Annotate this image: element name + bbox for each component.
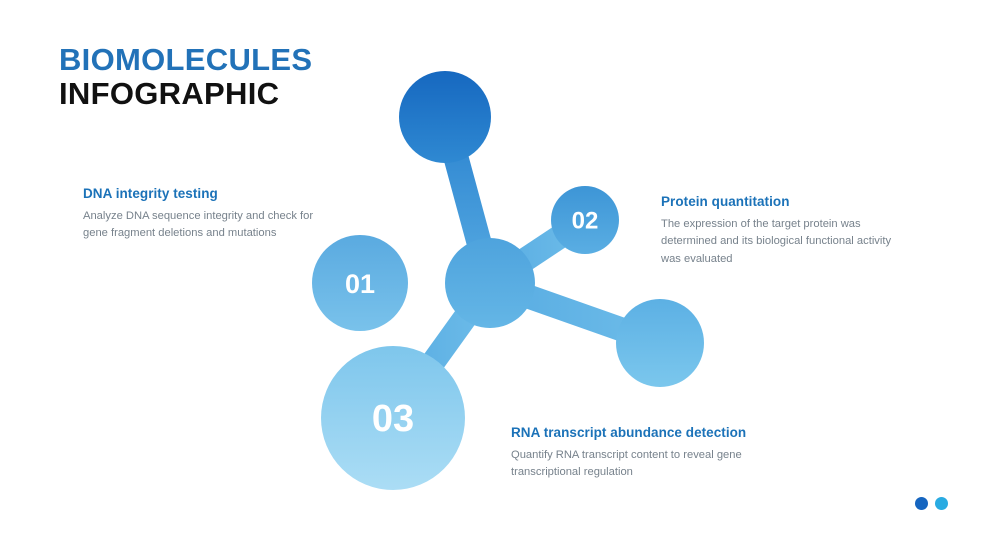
node-hub[interactable] [445, 238, 535, 328]
callout-rna-body: Quantify RNA transcript content to revea… [511, 447, 766, 482]
node-01-label: 01 [345, 269, 375, 299]
callout-dna-body: Analyze DNA sequence integrity and check… [83, 208, 333, 243]
pager-indicator [915, 497, 948, 510]
callout-dna-integrity-testing: DNA integrity testing Analyze DNA sequen… [83, 186, 333, 243]
callout-protein-heading: Protein quantitation [661, 194, 913, 209]
node-top[interactable] [399, 71, 491, 163]
page-title: BIOMOLECULES INFOGRAPHIC [59, 44, 312, 109]
node-02-label: 02 [572, 208, 599, 235]
title-line-secondary: INFOGRAPHIC [59, 78, 312, 110]
callout-rna-transcript-detection: RNA transcript abundance detection Quant… [511, 425, 766, 482]
callout-dna-heading: DNA integrity testing [83, 186, 333, 201]
pager-dot-2[interactable] [935, 497, 948, 510]
pager-dot-1[interactable] [915, 497, 928, 510]
callout-protein-quantitation: Protein quantitation The expression of t… [661, 194, 913, 268]
callout-protein-body: The expression of the target protein was… [661, 216, 913, 268]
callout-rna-heading: RNA transcript abundance detection [511, 425, 766, 440]
title-line-primary: BIOMOLECULES [59, 44, 312, 76]
node-03-label: 03 [372, 398, 414, 440]
slide-canvas: BIOMOLECULES INFOGRAPHIC [0, 0, 993, 558]
node-right[interactable] [616, 299, 704, 387]
